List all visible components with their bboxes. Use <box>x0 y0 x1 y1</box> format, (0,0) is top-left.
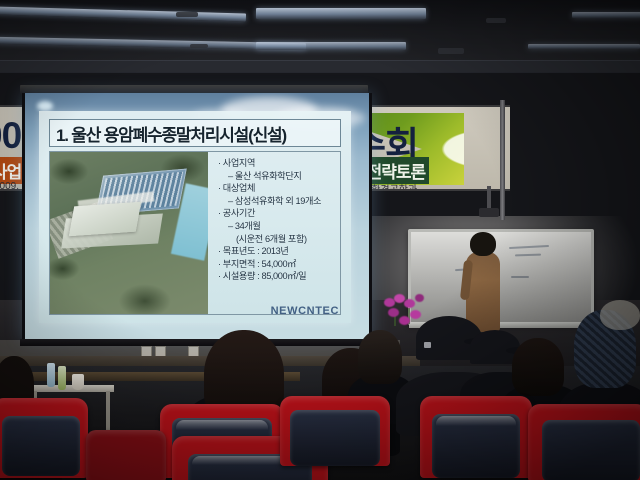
banner-pole <box>500 100 505 220</box>
auditorium-seat[interactable] <box>420 396 532 480</box>
photo-building <box>69 202 141 237</box>
auditorium-seat[interactable] <box>86 430 166 480</box>
cap-logo <box>424 342 431 348</box>
orchid-petal <box>404 299 415 308</box>
projector-hotspot <box>37 101 53 111</box>
banner-left-date: 2009. <box>0 181 19 191</box>
person-head <box>600 300 640 330</box>
screen-bottom-bar <box>20 339 368 346</box>
ceiling-vent-icon <box>176 12 198 17</box>
banner-left-title: 00 <box>0 115 21 157</box>
ceiling-light <box>528 44 640 49</box>
seat-highlight <box>436 416 516 426</box>
whiteboard-shading <box>411 232 591 322</box>
ceiling-light <box>256 42 406 50</box>
seat-cushion <box>86 430 166 480</box>
presenter-head <box>470 232 496 256</box>
list-item: · 부지면적 : 54,000㎡ <box>214 258 336 271</box>
list-item: – 삼성석유화학 외 19개소 <box>214 195 336 208</box>
slide-body: · 사업지역 – 울산 석유화학단지 · 대상업체 – 삼성석유화학 외 19개… <box>49 151 341 315</box>
facility-aerial-photo <box>50 152 208 314</box>
list-item: – 34개월 <box>214 220 336 233</box>
whiteboard <box>408 229 594 325</box>
list-item: · 대상업체 <box>214 182 336 195</box>
ceiling-light <box>0 7 246 22</box>
audience-member <box>600 300 640 340</box>
company-logo: NEWCNTEC <box>271 305 339 317</box>
ceiling-vent-icon <box>438 48 464 54</box>
auditorium-seat[interactable] <box>0 398 88 480</box>
seat-panel <box>2 416 80 476</box>
paper-cup <box>72 374 84 390</box>
list-item: · 공사기간 <box>214 207 336 220</box>
seat-panel <box>542 420 640 480</box>
projection-screen: 1. 울산 용암폐수종말처리시설(신설) · 사업지역 – 울산 석유화학단지 … <box>22 93 372 341</box>
ceiling-light <box>572 12 640 18</box>
orchid-petal <box>388 308 399 317</box>
orchid-petal <box>399 316 410 325</box>
ceiling-light <box>256 8 426 19</box>
list-item: · 사업지역 <box>214 157 336 170</box>
presentation-slide: 1. 울산 용암폐수종말처리시설(신설) · 사업지역 – 울산 석유화학단지 … <box>39 111 351 323</box>
water-bottle <box>58 366 66 390</box>
seat-panel <box>290 410 380 466</box>
slide-title: 1. 울산 용암폐수종말처리시설(신설) <box>49 119 341 147</box>
person-hair <box>512 338 564 396</box>
orchid-petal <box>415 294 424 302</box>
auditorium-seat[interactable] <box>528 404 640 480</box>
projector-icon <box>479 208 499 217</box>
ceiling-vent-icon <box>190 44 208 48</box>
lecture-hall-photo: 00 사업 2009. 수회 공전략토론 학교 환경공학과 1. 울산 용암폐수… <box>0 0 640 480</box>
table-leg <box>106 391 110 431</box>
list-item: · 시설용량 : 85,000㎡/일 <box>214 270 336 283</box>
seat-highlight <box>176 420 268 430</box>
person-hair <box>358 330 402 384</box>
auditorium-seat[interactable] <box>280 396 390 468</box>
slide-bullet-list: · 사업지역 – 울산 석유화학단지 · 대상업체 – 삼성석유화학 외 19개… <box>208 152 340 314</box>
list-item: (시운전 6개월 포함) <box>214 233 336 246</box>
ceiling <box>0 0 640 72</box>
ceiling-vent-icon <box>486 18 506 23</box>
list-item: – 울산 석유화학단지 <box>214 170 336 183</box>
list-item: · 목표년도 : 2013년 <box>214 245 336 258</box>
